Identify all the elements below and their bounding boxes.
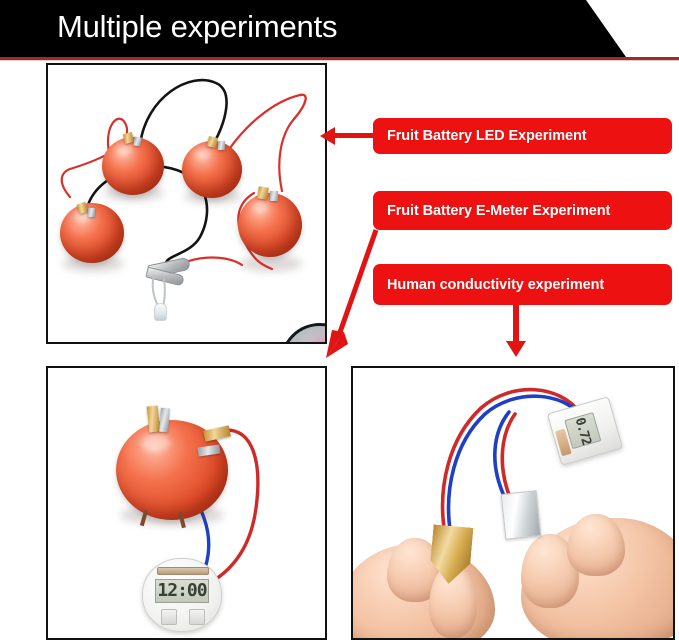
electrode-zinc xyxy=(159,408,170,433)
human-conductivity-photo: 0.72 xyxy=(353,368,673,638)
panel-fruit-battery-emeter: 12:00 12:01 xyxy=(46,366,327,640)
digital-clock-module: 12:00 xyxy=(142,558,222,632)
fruit-1 xyxy=(102,137,164,195)
arrow-to-emeter-panel xyxy=(318,226,380,360)
clock-lcd-value: 12:00 xyxy=(157,582,206,600)
arrow-to-human-panel-shaft xyxy=(513,305,519,343)
arrow-to-led-panel-head xyxy=(320,127,335,145)
electrode-zinc xyxy=(218,141,225,150)
label-human-conductivity[interactable]: Human conductivity experiment xyxy=(373,264,672,305)
clock-slot xyxy=(157,567,209,575)
meter-lcd: 0.72 xyxy=(564,412,601,449)
panel-fruit-battery-led xyxy=(46,63,327,344)
emeter-experiment-photo: 12:00 xyxy=(48,368,325,638)
clock-button-left[interactable] xyxy=(161,609,177,625)
arrow-to-human-panel-head xyxy=(506,341,526,357)
arrow-to-led-panel-shaft xyxy=(333,133,373,138)
meter-lcd-value: 0.72 xyxy=(573,416,593,446)
finger-right-index xyxy=(567,514,625,576)
electrode-zinc-plate xyxy=(501,490,542,540)
label-text: Fruit Battery E-Meter Experiment xyxy=(387,203,610,219)
clock-button-right[interactable] xyxy=(189,609,205,625)
fruit-2 xyxy=(182,141,242,198)
led-experiment-photo xyxy=(48,65,325,342)
label-text: Fruit Battery LED Experiment xyxy=(387,128,586,144)
fruit-4 xyxy=(238,193,302,257)
label-text: Human conductivity experiment xyxy=(387,277,604,293)
label-fruit-battery-led[interactable]: Fruit Battery LED Experiment xyxy=(373,118,672,154)
page-title: Multiple experiments xyxy=(57,9,337,45)
electrode-zinc xyxy=(270,191,278,201)
electrode-copper xyxy=(257,186,269,199)
clock-lcd: 12:00 xyxy=(155,579,209,603)
label-fruit-battery-emeter[interactable]: Fruit Battery E-Meter Experiment xyxy=(373,191,672,230)
led-bulb xyxy=(154,303,167,321)
electrode-zinc xyxy=(88,208,95,217)
header-divider-soft xyxy=(0,60,679,61)
panel-human-conductivity: 0.72 xyxy=(351,366,675,640)
